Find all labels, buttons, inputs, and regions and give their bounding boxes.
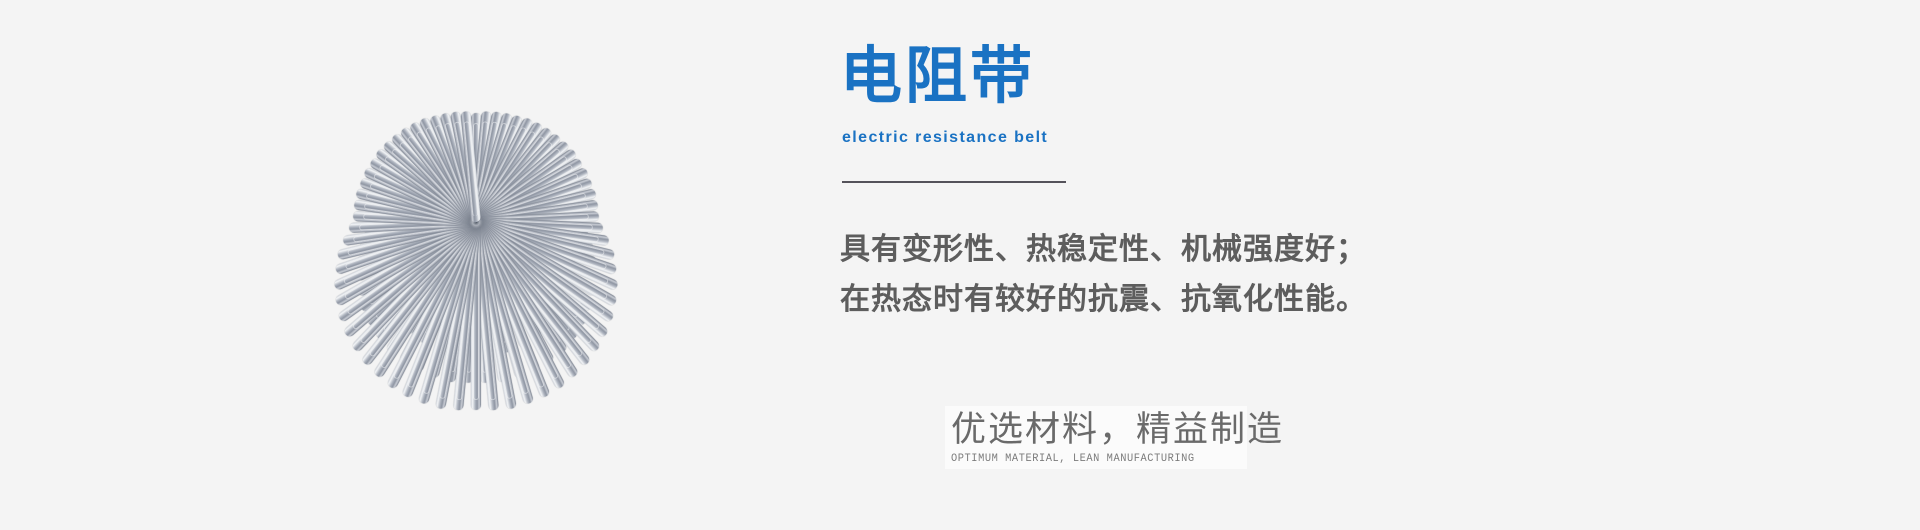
description-line-2: 在热态时有较好的抗震、抗氧化性能。 — [840, 275, 1367, 325]
title-divider — [842, 181, 1066, 183]
tagline: 优选材料，精益制造 OPTIMUM MATERIAL, LEAN MANUFAC… — [945, 406, 1247, 469]
product-image — [296, 36, 656, 408]
tagline-cn: 优选材料，精益制造 — [951, 408, 1241, 452]
product-banner: 电阻带 electric resistance belt 具有变形性、热稳定性、… — [0, 0, 1920, 530]
page-title: 电阻带 — [840, 44, 1035, 109]
resistance-belt-coil-icon — [296, 36, 656, 408]
page-subtitle: electric resistance belt — [842, 129, 1048, 147]
description-text: 具有变形性、热稳定性、机械强度好； 在热态时有较好的抗震、抗氧化性能。 — [840, 225, 1367, 325]
tagline-en: OPTIMUM MATERIAL, LEAN MANUFACTURING — [951, 453, 1224, 465]
text-column: 电阻带 electric resistance belt 具有变形性、热稳定性、… — [840, 0, 1740, 530]
description-line-1: 具有变形性、热稳定性、机械强度好； — [840, 225, 1367, 275]
